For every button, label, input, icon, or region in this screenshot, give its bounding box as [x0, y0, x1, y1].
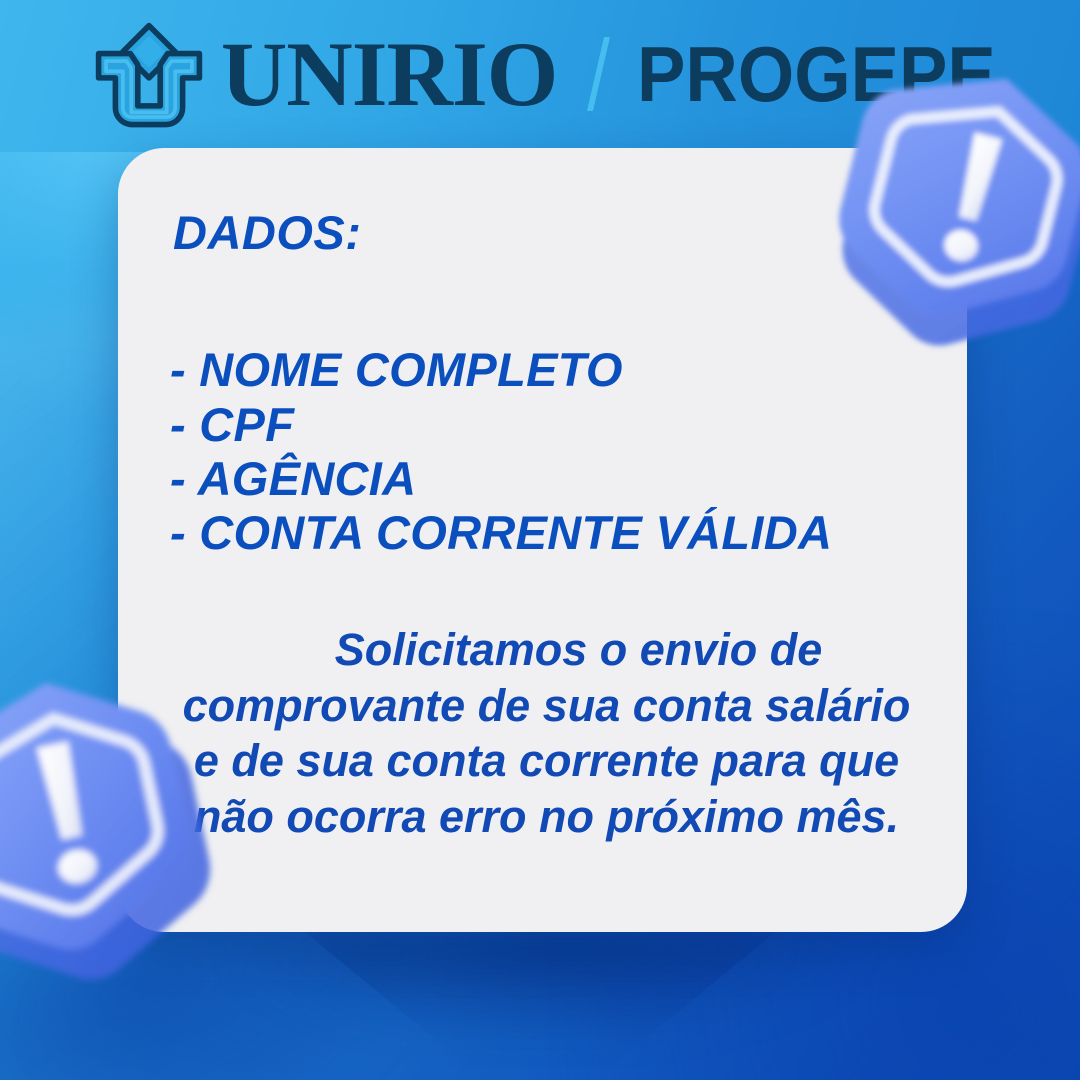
list-item: - CPF	[170, 398, 927, 452]
instruction-paragraph: Solicitamos o envio de comprovante de su…	[180, 622, 913, 843]
required-data-list: - NOME COMPLETO - CPF - AGÊNCIA - CONTA …	[170, 343, 927, 560]
list-item: - CONTA CORRENTE VÁLIDA	[170, 506, 927, 560]
brand-divider-icon	[587, 37, 610, 111]
brand-wordmark: UNIRIO	[221, 28, 557, 120]
section-heading: DADOS:	[173, 208, 927, 257]
poster-canvas: UNIRIO PROGEPE DADOS: - NOME COMPLETO - …	[0, 0, 1080, 1080]
list-item: - NOME COMPLETO	[170, 343, 927, 397]
list-item: - AGÊNCIA	[170, 452, 927, 506]
unirio-u-diamond-mark-icon	[93, 20, 205, 132]
